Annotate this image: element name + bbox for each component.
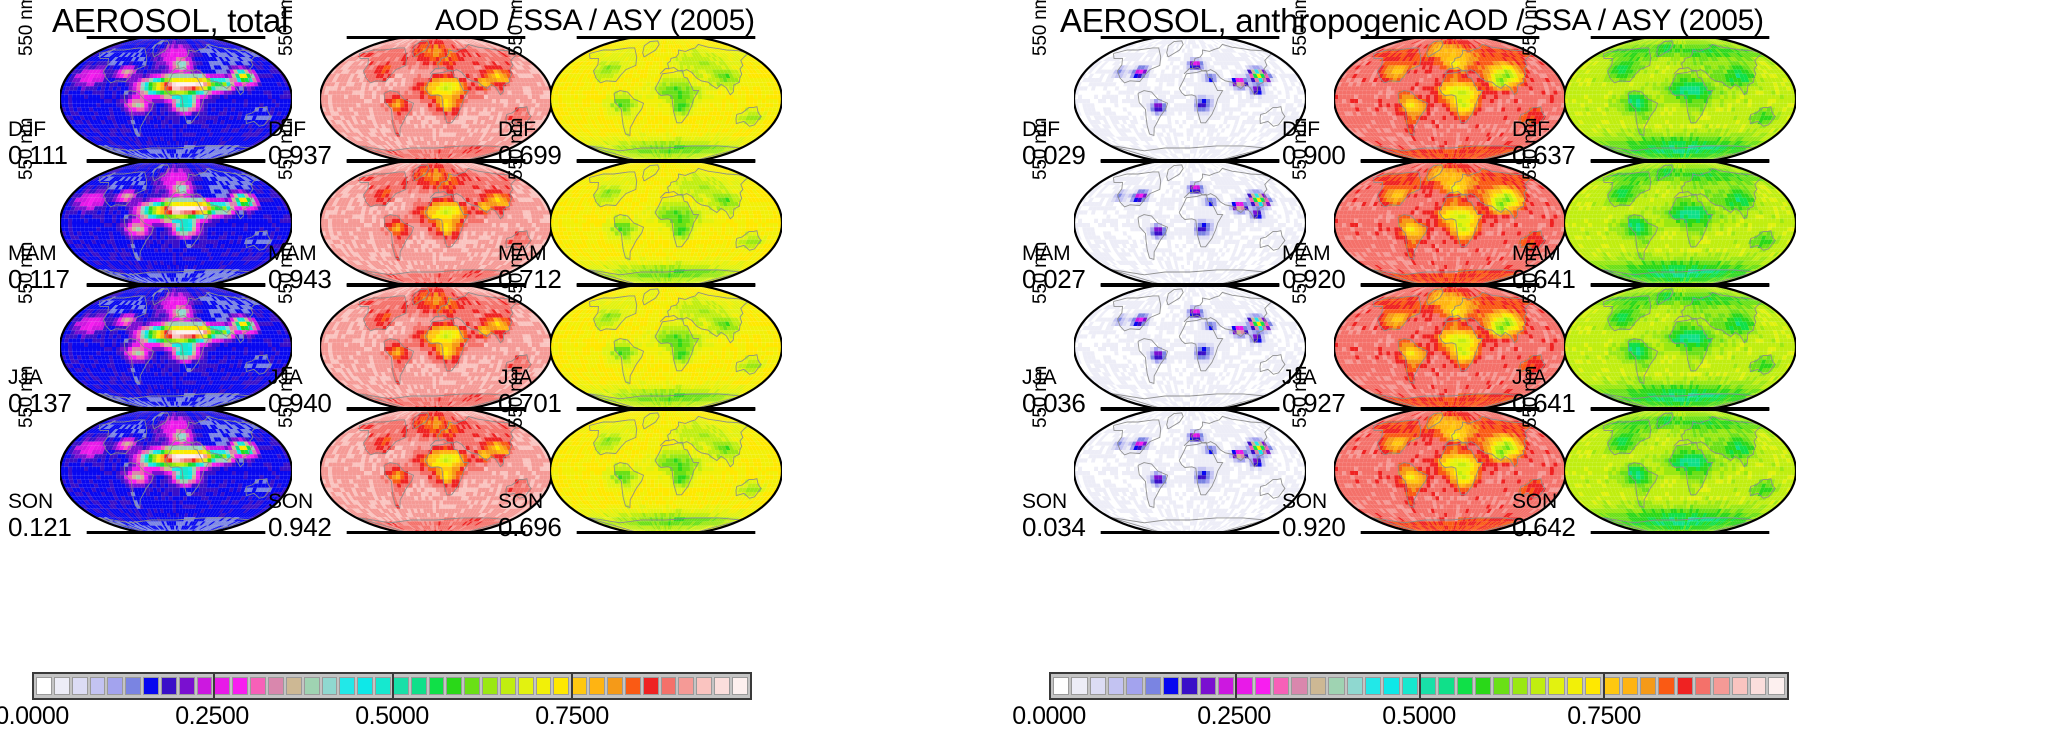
colorbar-swatch: [1090, 677, 1106, 695]
wavelength-label: 550 nm: [16, 118, 38, 180]
colorbar-swatch: [553, 677, 569, 695]
map-row: 550 nm MAM 0.027: [1022, 160, 1312, 284]
season-label: SON: [1282, 490, 1327, 514]
map-row: 550 nm MAM 0.712: [498, 160, 788, 284]
wavelength-label: 550 nm: [1520, 366, 1542, 428]
globe-map: [1074, 36, 1306, 162]
colorbar-swatch: [482, 677, 498, 695]
colorbar-divider: [1603, 672, 1605, 700]
colorbar-swatch: [1603, 677, 1619, 695]
colorbar-swatch: [678, 677, 694, 695]
map-row: 550 nm JJA 0.641: [1512, 284, 1802, 408]
panel-aerosol-total: AEROSOL, total AOD / SSA / ASY (2005) 55…: [0, 0, 1033, 741]
colorbar-swatch: [1512, 677, 1528, 695]
map-row: 550 nm DJF 0.111: [8, 36, 298, 160]
colorbar-swatch: [1310, 677, 1326, 695]
colorbar-divider: [1235, 672, 1237, 700]
season-label: SON: [1512, 490, 1557, 514]
globe-map: [550, 408, 782, 534]
wavelength-label: 550 nm: [276, 366, 298, 428]
wavelength-label: 550 nm: [1520, 118, 1542, 180]
wavelength-label: 550 nm: [506, 0, 528, 56]
colorbar-swatch: [446, 677, 462, 695]
colorbar-swatch: [1291, 677, 1307, 695]
colorbar-tick-label: 0.5000: [1382, 702, 1455, 731]
colorbar-swatch: [375, 677, 391, 695]
column-asy-anthropogenic: 550 nm DJF 0.637 550 nm MAM 0.641 550 nm…: [1512, 34, 1802, 649]
colorbar-swatch: [143, 677, 159, 695]
globe-map: [550, 36, 782, 162]
colorbar-total: 0.00000.25000.50000.7500: [32, 672, 752, 732]
colorbar-swatch: [1622, 677, 1638, 695]
map-row: 550 nm SON 0.642: [1512, 408, 1802, 532]
colorbar-swatch: [1126, 677, 1142, 695]
colorbar-swatch: [1163, 677, 1179, 695]
colorbar-strip: [32, 672, 752, 700]
colorbar-tick-label: 0.7500: [1567, 702, 1640, 731]
colorbar-swatch: [571, 677, 587, 695]
colorbar-swatch: [1695, 677, 1711, 695]
colorbar-swatch: [1567, 677, 1583, 695]
map-row: 550 nm SON 0.121: [8, 408, 298, 532]
wavelength-label: 550 nm: [1520, 242, 1542, 304]
colorbar-swatch: [125, 677, 141, 695]
globe-map: [1074, 408, 1306, 534]
colorbar-tick-label: 0.2500: [175, 702, 248, 731]
colorbar-ticks: 0.00000.25000.50000.7500: [32, 702, 752, 730]
colorbar-divider: [571, 672, 573, 700]
colorbar-swatch: [304, 677, 320, 695]
wavelength-label: 550 nm: [1290, 242, 1312, 304]
colorbar-swatch: [1750, 677, 1766, 695]
map-row: 550 nm DJF 0.699: [498, 36, 788, 160]
colorbar-swatch: [1273, 677, 1289, 695]
wavelength-label: 550 nm: [1290, 0, 1312, 56]
colorbar-swatch: [732, 677, 748, 695]
wavelength-label: 550 nm: [16, 366, 38, 428]
globe-map: [550, 284, 782, 410]
map-row: 550 nm JJA 0.036: [1022, 284, 1312, 408]
globe-map: [1564, 284, 1796, 410]
colorbar-swatch: [1383, 677, 1399, 695]
aerosol-figure: AEROSOL, total AOD / SSA / ASY (2005) 55…: [0, 0, 2067, 741]
season-label: SON: [1022, 490, 1067, 514]
map-row: 550 nm MAM 0.117: [8, 160, 298, 284]
colorbar-swatch: [107, 677, 123, 695]
colorbar-swatch: [179, 677, 195, 695]
colorbar-swatch: [500, 677, 516, 695]
map-row: 550 nm MAM 0.641: [1512, 160, 1802, 284]
globe-columns-total: 550 nm DJF 0.111 550 nm MAM 0.117 550 nm…: [0, 34, 1033, 649]
wavelength-label: 550 nm: [1030, 242, 1052, 304]
colorbar-swatch: [1365, 677, 1381, 695]
colorbar-swatch: [696, 677, 712, 695]
colorbar-swatch: [411, 677, 427, 695]
wavelength-label: 550 nm: [276, 242, 298, 304]
colorbar-swatch: [1768, 677, 1784, 695]
colorbar-swatch: [339, 677, 355, 695]
wavelength-label: 550 nm: [16, 242, 38, 304]
colorbar-swatch: [36, 677, 52, 695]
colorbar-swatch: [161, 677, 177, 695]
colorbar-swatch: [1732, 677, 1748, 695]
colorbar-swatch: [1145, 677, 1161, 695]
colorbar-swatch: [1640, 677, 1656, 695]
colorbar-swatch: [1218, 677, 1234, 695]
colorbar-swatch: [197, 677, 213, 695]
panel-subtitle-total: AOD / SSA / ASY (2005): [435, 4, 755, 38]
colorbar-divider: [392, 672, 394, 700]
colorbar-swatch: [1658, 677, 1674, 695]
colorbar-swatch: [1475, 677, 1491, 695]
colorbar-swatch: [1328, 677, 1344, 695]
colorbar-swatch: [1181, 677, 1197, 695]
colorbar-swatch: [1457, 677, 1473, 695]
colorbar-swatch: [322, 677, 338, 695]
colorbar-swatch: [1255, 677, 1271, 695]
globe-map: [60, 160, 292, 286]
colorbar-strip: [1049, 672, 1789, 700]
colorbar-swatch: [72, 677, 88, 695]
column-asy-total: 550 nm DJF 0.699 550 nm MAM 0.712 550 nm…: [498, 34, 788, 649]
globe-columns-anthropogenic: 550 nm DJF 0.029 550 nm MAM 0.027 550 nm…: [1034, 34, 2067, 649]
colorbar-swatch: [1071, 677, 1087, 695]
colorbar-anthropogenic: 0.00000.25000.50000.7500: [1049, 672, 1789, 732]
colorbar-swatch: [1677, 677, 1693, 695]
colorbar-swatch: [1402, 677, 1418, 695]
colorbar-swatch: [1713, 677, 1729, 695]
wavelength-label: 550 nm: [1030, 118, 1052, 180]
wavelength-label: 550 nm: [1290, 366, 1312, 428]
panel-subtitle-anthropogenic: AOD / SSA / ASY (2005): [1444, 4, 1764, 38]
globe-map: [1074, 160, 1306, 286]
colorbar-swatch: [393, 677, 409, 695]
map-row: 550 nm JJA 0.701: [498, 284, 788, 408]
colorbar-swatch: [536, 677, 552, 695]
colorbar-swatch: [643, 677, 659, 695]
wavelength-label: 550 nm: [506, 366, 528, 428]
column-aod-total: 550 nm DJF 0.111 550 nm MAM 0.117 550 nm…: [8, 34, 298, 649]
colorbar-tick-label: 0.7500: [535, 702, 608, 731]
colorbar-swatch: [1548, 677, 1564, 695]
globe-map: [60, 408, 292, 534]
season-label: SON: [268, 490, 313, 514]
map-row: 550 nm DJF 0.637: [1512, 36, 1802, 160]
globe-map: [1564, 160, 1796, 286]
colorbar-swatch: [1200, 677, 1216, 695]
season-label: SON: [8, 490, 53, 514]
colorbar-swatch: [1420, 677, 1436, 695]
colorbar-swatch: [714, 677, 730, 695]
colorbar-swatch: [625, 677, 641, 695]
colorbar-divider: [1419, 672, 1421, 700]
colorbar-tick-label: 0.5000: [355, 702, 428, 731]
colorbar-swatch: [268, 677, 284, 695]
wavelength-label: 550 nm: [1290, 118, 1312, 180]
map-row: 550 nm JJA 0.137: [8, 284, 298, 408]
globe-map: [1564, 36, 1796, 162]
column-aod-anthropogenic: 550 nm DJF 0.029 550 nm MAM 0.027 550 nm…: [1022, 34, 1312, 649]
colorbar-tick-label: 0.2500: [1197, 702, 1270, 731]
colorbar-divider: [213, 672, 215, 700]
colorbar-swatch: [518, 677, 534, 695]
globe-map: [60, 36, 292, 162]
colorbar-tick-label: 0.0000: [1012, 702, 1085, 731]
wavelength-label: 550 nm: [1030, 0, 1052, 56]
colorbar-ticks: 0.00000.25000.50000.7500: [1049, 702, 1789, 730]
colorbar-swatch: [1493, 677, 1509, 695]
colorbar-swatch: [1585, 677, 1601, 695]
map-row: 550 nm DJF 0.029: [1022, 36, 1312, 160]
colorbar-swatch: [589, 677, 605, 695]
colorbar-swatch: [607, 677, 623, 695]
colorbar-tick-label: 0.0000: [0, 702, 69, 731]
colorbar-swatch: [1530, 677, 1546, 695]
colorbar-swatch: [1347, 677, 1363, 695]
wavelength-label: 550 nm: [276, 118, 298, 180]
colorbar-swatch: [464, 677, 480, 695]
colorbar-swatch: [286, 677, 302, 695]
wavelength-label: 550 nm: [16, 0, 38, 56]
wavelength-label: 550 nm: [506, 118, 528, 180]
map-row: 550 nm SON 0.696: [498, 408, 788, 532]
colorbar-swatch: [1438, 677, 1454, 695]
colorbar-swatch: [1236, 677, 1252, 695]
map-row: 550 nm SON 0.034: [1022, 408, 1312, 532]
colorbar-swatch: [1108, 677, 1124, 695]
colorbar-swatch: [54, 677, 70, 695]
globe-map: [550, 160, 782, 286]
wavelength-label: 550 nm: [1520, 0, 1542, 56]
colorbar-swatch: [90, 677, 106, 695]
season-label: SON: [498, 490, 543, 514]
colorbar-swatch: [232, 677, 248, 695]
colorbar-swatch: [1053, 677, 1069, 695]
globe-map: [1564, 408, 1796, 534]
panel-aerosol-anthropogenic: AEROSOL, anthropogenic AOD / SSA / ASY (…: [1034, 0, 2067, 741]
globe-map: [60, 284, 292, 410]
colorbar-swatch: [429, 677, 445, 695]
colorbar-swatch: [250, 677, 266, 695]
wavelength-label: 550 nm: [1030, 366, 1052, 428]
wavelength-label: 550 nm: [276, 0, 298, 56]
wavelength-label: 550 nm: [506, 242, 528, 304]
colorbar-swatch: [357, 677, 373, 695]
globe-map: [1074, 284, 1306, 410]
colorbar-swatch: [661, 677, 677, 695]
colorbar-swatch: [214, 677, 230, 695]
